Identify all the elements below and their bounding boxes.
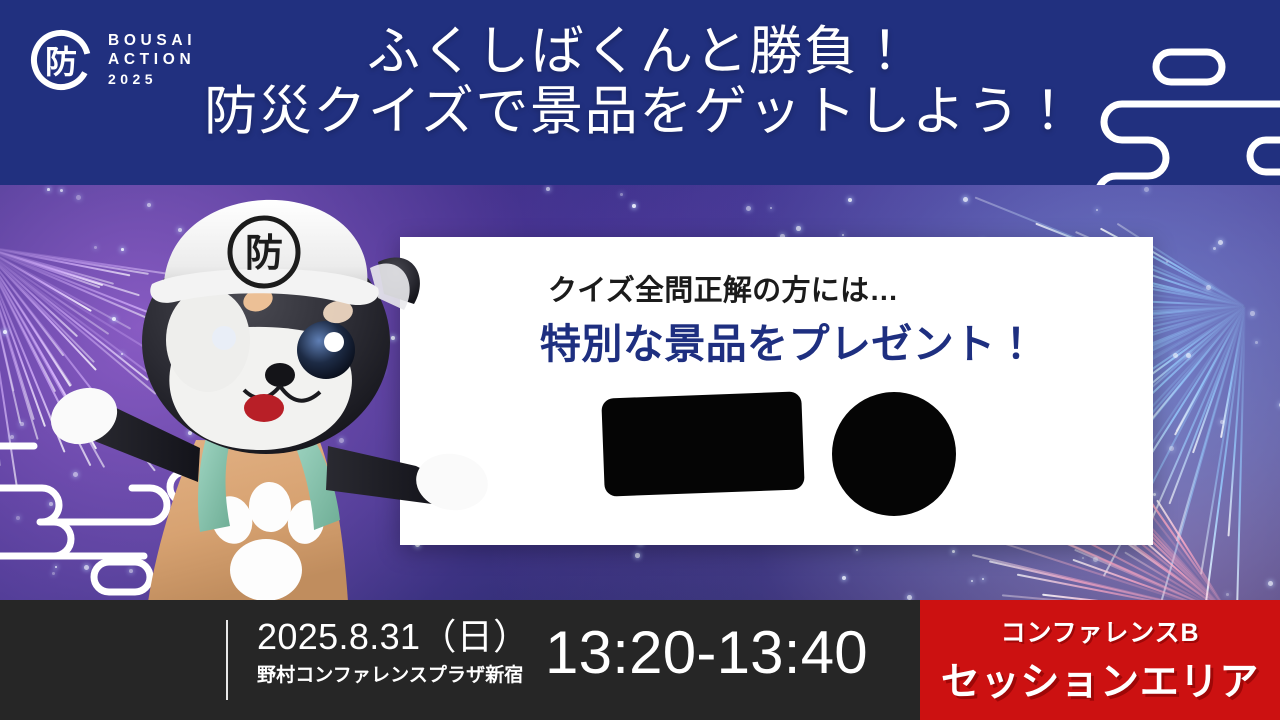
session-time: 13:20-13:40 xyxy=(545,623,868,683)
mascot-tongue xyxy=(244,394,284,422)
mascot-left-eye xyxy=(212,326,236,350)
panel-headline: 特別な景品をプレゼント！ xyxy=(540,310,1037,370)
mascot-right-arm xyxy=(326,446,492,515)
panel-subtitle: クイズ全問正解の方には… xyxy=(548,267,899,309)
event-date: 2025.8.31（日） xyxy=(257,618,527,657)
redacted-circle xyxy=(832,392,956,516)
badge-area-label: セッションエリア xyxy=(941,651,1259,707)
event-venue: 野村コンファレンスプラザ新宿 xyxy=(257,660,527,687)
session-area-badge: コンファレンスB セッションエリア xyxy=(920,600,1280,720)
decorative-wave-motif-top-right xyxy=(1078,18,1280,185)
safety-helmet: 防 xyxy=(150,200,378,305)
redacted-rectangle xyxy=(601,391,804,496)
badge-conference-label: コンファレンスB xyxy=(1001,613,1200,649)
logo-wordmark: BOUSAI ACTION 2025 xyxy=(108,33,196,88)
bousai-enso-logo-icon: 防 xyxy=(27,26,95,94)
mascot-fukushiba-kun: 防 xyxy=(48,190,518,602)
slide-stage: クイズ全問正解の方には… 特別な景品をプレゼント！ xyxy=(0,0,1280,720)
logo-line-1: BOUSAI xyxy=(108,33,196,50)
mascot-right-eye xyxy=(297,321,355,379)
logo-line-2: ACTION xyxy=(108,52,196,69)
mascot-nose xyxy=(265,363,295,387)
logo-line-3: 2025 xyxy=(108,72,196,87)
helmet-kanji: 防 xyxy=(245,231,283,275)
bousai-action-logo: 防 BOUSAI ACTION 2025 xyxy=(27,24,212,96)
logo-kanji: 防 xyxy=(45,43,77,81)
event-date-block: 2025.8.31（日） 野村コンファレンスプラザ新宿 xyxy=(257,618,527,687)
footer-divider xyxy=(226,620,228,700)
